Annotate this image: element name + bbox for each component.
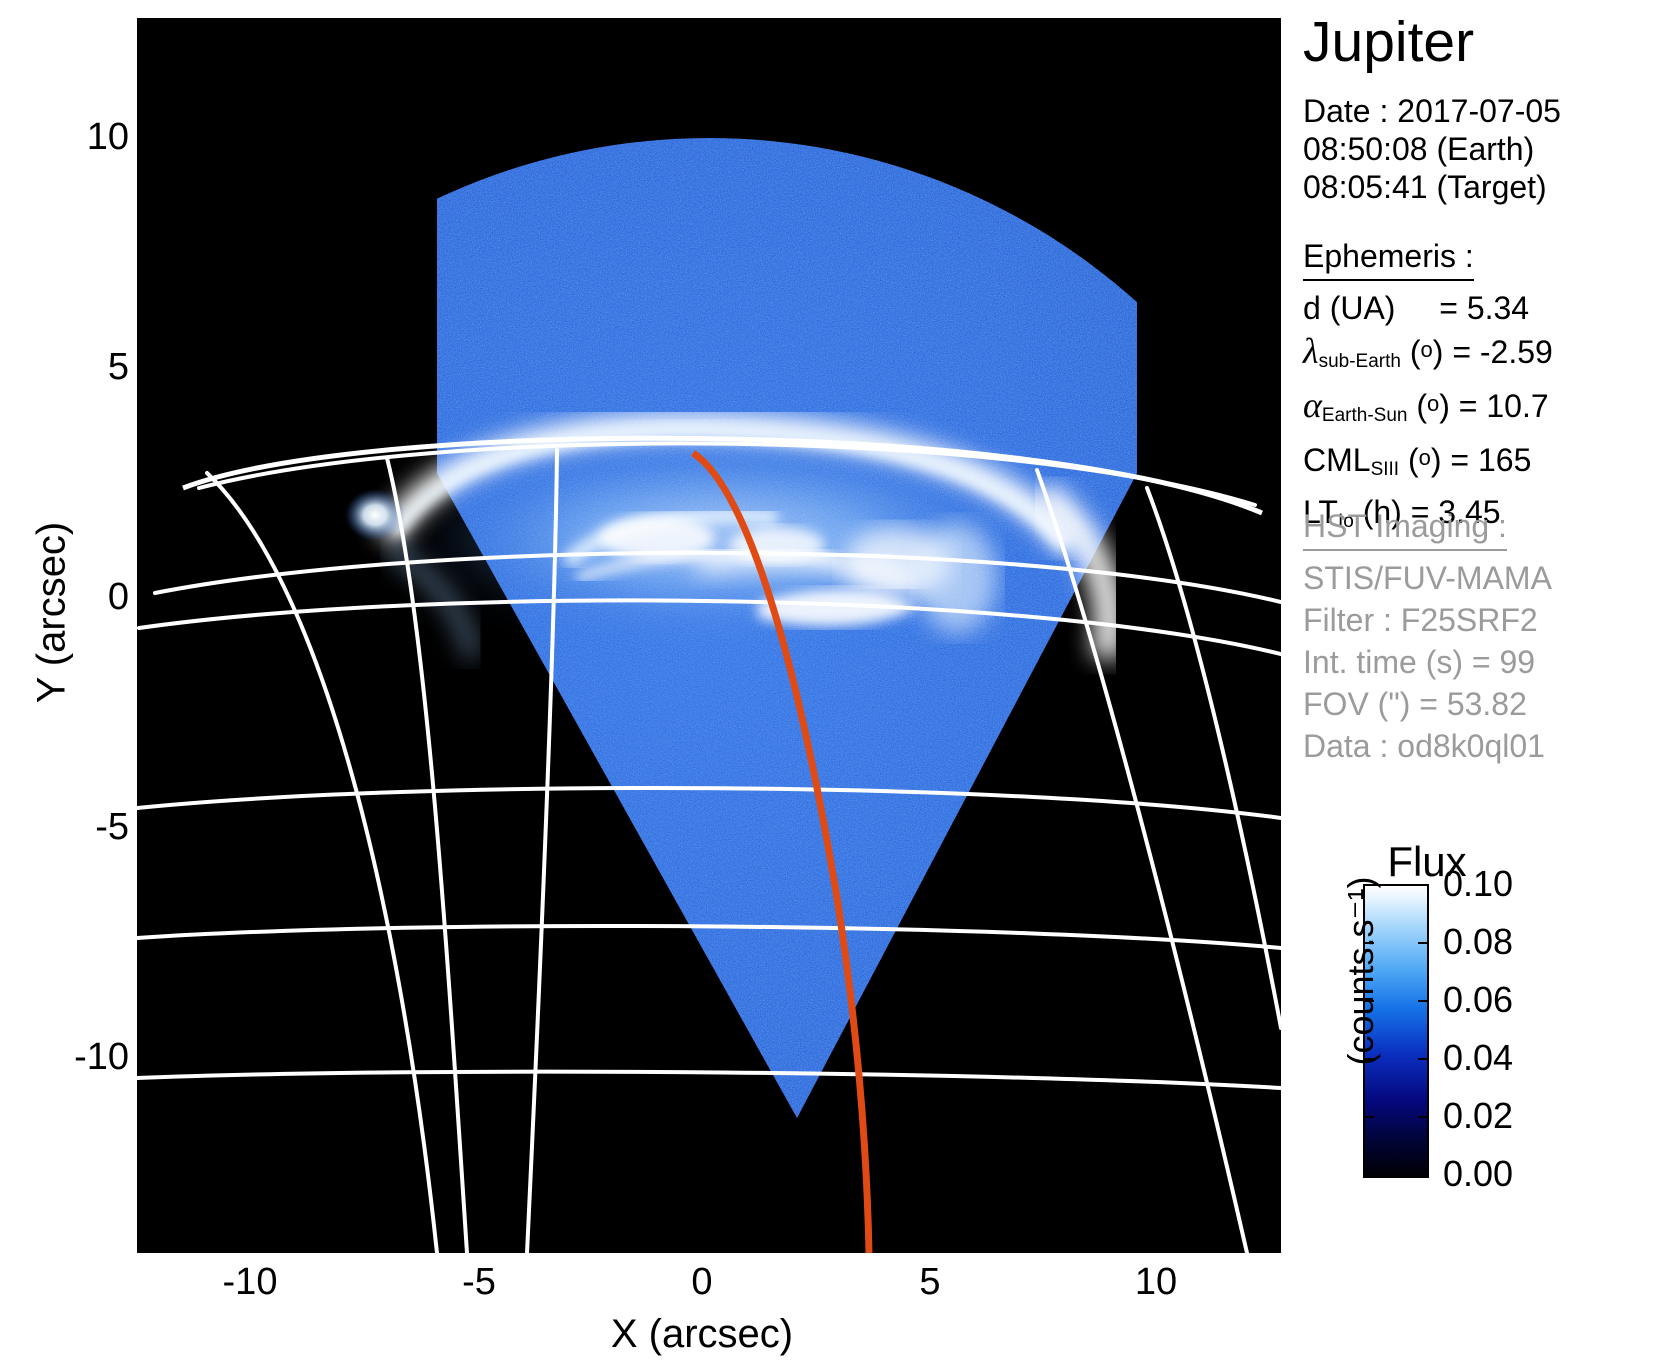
- x-tick-label-m5: -5: [409, 1263, 549, 1301]
- aurora-image-plot: [137, 18, 1281, 1253]
- hst-imaging-block: HST Imaging : STIS/FUV-MAMA Filter : F25…: [1303, 505, 1552, 767]
- y-tick-label-5: 5: [9, 348, 129, 386]
- hst-fov: FOV (") = 53.82: [1303, 683, 1552, 725]
- hst-dataset: Data : od8k0ql01: [1303, 725, 1552, 767]
- y-axis-title: Y (arcsec): [30, 443, 75, 783]
- ephemeris-block: Ephemeris : d (UA) = 5.34 λsub-Earth (o)…: [1303, 235, 1553, 543]
- cml-unit: (o): [1408, 442, 1442, 478]
- ephemeris-heading: Ephemeris :: [1303, 235, 1474, 281]
- cbar-tick-0.06: 0.06: [1443, 982, 1513, 1018]
- alpha-unit: (o): [1416, 388, 1450, 424]
- hst-int-time: Int. time (s) = 99: [1303, 641, 1552, 683]
- y-tick-label-10: 10: [9, 118, 129, 156]
- time-target-line: 08:05:41 (Target): [1303, 168, 1561, 206]
- cml-value: = 165: [1450, 442, 1531, 478]
- cbar-tick-0.10: 0.10: [1443, 866, 1513, 902]
- ephemeris-row-lambda: λsub-Earth (o) = -2.59: [1303, 329, 1553, 383]
- alpha-value: = 10.7: [1459, 388, 1549, 424]
- hst-heading: HST Imaging :: [1303, 505, 1507, 551]
- cbar-tick-0.00: 0.00: [1443, 1156, 1513, 1192]
- lambda-unit: (o): [1410, 334, 1444, 370]
- ephemeris-row-cml: CMLSIII (o) = 165: [1303, 437, 1553, 491]
- y-tick-label-m10: -10: [9, 1038, 129, 1076]
- lambda-value: = -2.59: [1452, 334, 1553, 370]
- info-panel: Jupiter Date : 2017-07-05 08:50:08 (Eart…: [1297, 0, 1676, 1367]
- colorbar-tick-labels: 0.10 0.08 0.06 0.04 0.02 0.00: [1429, 864, 1629, 1194]
- x-tick-label-5: 5: [860, 1263, 1000, 1301]
- distance-label: d (UA): [1303, 290, 1395, 326]
- colorbar-axis-label: (counts.s⁻¹): [1340, 821, 1382, 1121]
- plot-canvas: [137, 18, 1281, 1253]
- cml-subscript: SIII: [1371, 459, 1400, 480]
- hst-filter: Filter : F25SRF2: [1303, 599, 1552, 641]
- x-axis-title: X (arcsec): [562, 1312, 842, 1357]
- x-tick-label-m10: -10: [180, 1263, 320, 1301]
- alpha-symbol: α: [1303, 385, 1322, 425]
- hst-instrument: STIS/FUV-MAMA: [1303, 557, 1552, 599]
- date-line: Date : 2017-07-05: [1303, 92, 1561, 130]
- ephemeris-row-alpha: αEarth-Sun (o) = 10.7: [1303, 383, 1553, 437]
- x-tick-label-0: 0: [632, 1263, 772, 1301]
- page-title: Jupiter: [1303, 12, 1474, 72]
- distance-value: = 5.34: [1439, 290, 1529, 326]
- cml-symbol: CML: [1303, 442, 1371, 478]
- lambda-symbol: λ: [1303, 331, 1319, 371]
- ephemeris-row-distance: d (UA) = 5.34: [1303, 287, 1553, 329]
- cbar-tick-0.08: 0.08: [1443, 924, 1513, 960]
- cbar-tick-0.04: 0.04: [1443, 1040, 1513, 1076]
- lambda-subscript: sub-Earth: [1319, 351, 1401, 372]
- cbar-tick-0.02: 0.02: [1443, 1098, 1513, 1134]
- observation-date-block: Date : 2017-07-05 08:50:08 (Earth) 08:05…: [1303, 92, 1561, 206]
- x-tick-label-10: 10: [1086, 1263, 1226, 1301]
- y-tick-label-m5: -5: [9, 808, 129, 846]
- time-earth-line: 08:50:08 (Earth): [1303, 130, 1561, 168]
- alpha-subscript: Earth-Sun: [1322, 405, 1408, 426]
